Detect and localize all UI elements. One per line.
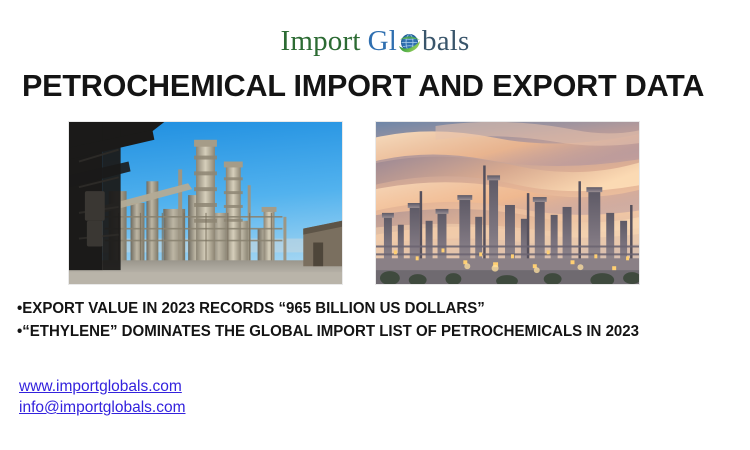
- bullet-item-export-value: •EXPORT VALUE IN 2023 RECORDS “965 BILLI…: [17, 297, 721, 320]
- bullet-item-ethylene: •“ETHYLENE” DOMINATES THE GLOBAL IMPORT …: [17, 320, 721, 343]
- refinery-daytime-photo: [68, 121, 343, 285]
- brand-logo: Import Gl: [0, 24, 750, 58]
- refinery-sunset-photo: [375, 121, 640, 285]
- email-link[interactable]: info@importglobals.com: [19, 397, 186, 418]
- page-title: PETROCHEMICAL IMPORT AND EXPORT DATA: [22, 66, 721, 106]
- brand-word-gl-prefix: Gl: [368, 27, 397, 56]
- brand-word-import: Import: [280, 27, 360, 56]
- website-link[interactable]: www.importglobals.com: [19, 376, 186, 397]
- brand-logo-text: Import Gl: [280, 27, 469, 56]
- bullet-list: •EXPORT VALUE IN 2023 RECORDS “965 BILLI…: [17, 297, 743, 343]
- brand-word-bals-suffix: bals: [422, 27, 470, 56]
- globe-icon: [397, 30, 422, 55]
- contact-block: www.importglobals.com info@importglobals…: [19, 376, 186, 418]
- slide-canvas: Import Gl: [0, 0, 750, 450]
